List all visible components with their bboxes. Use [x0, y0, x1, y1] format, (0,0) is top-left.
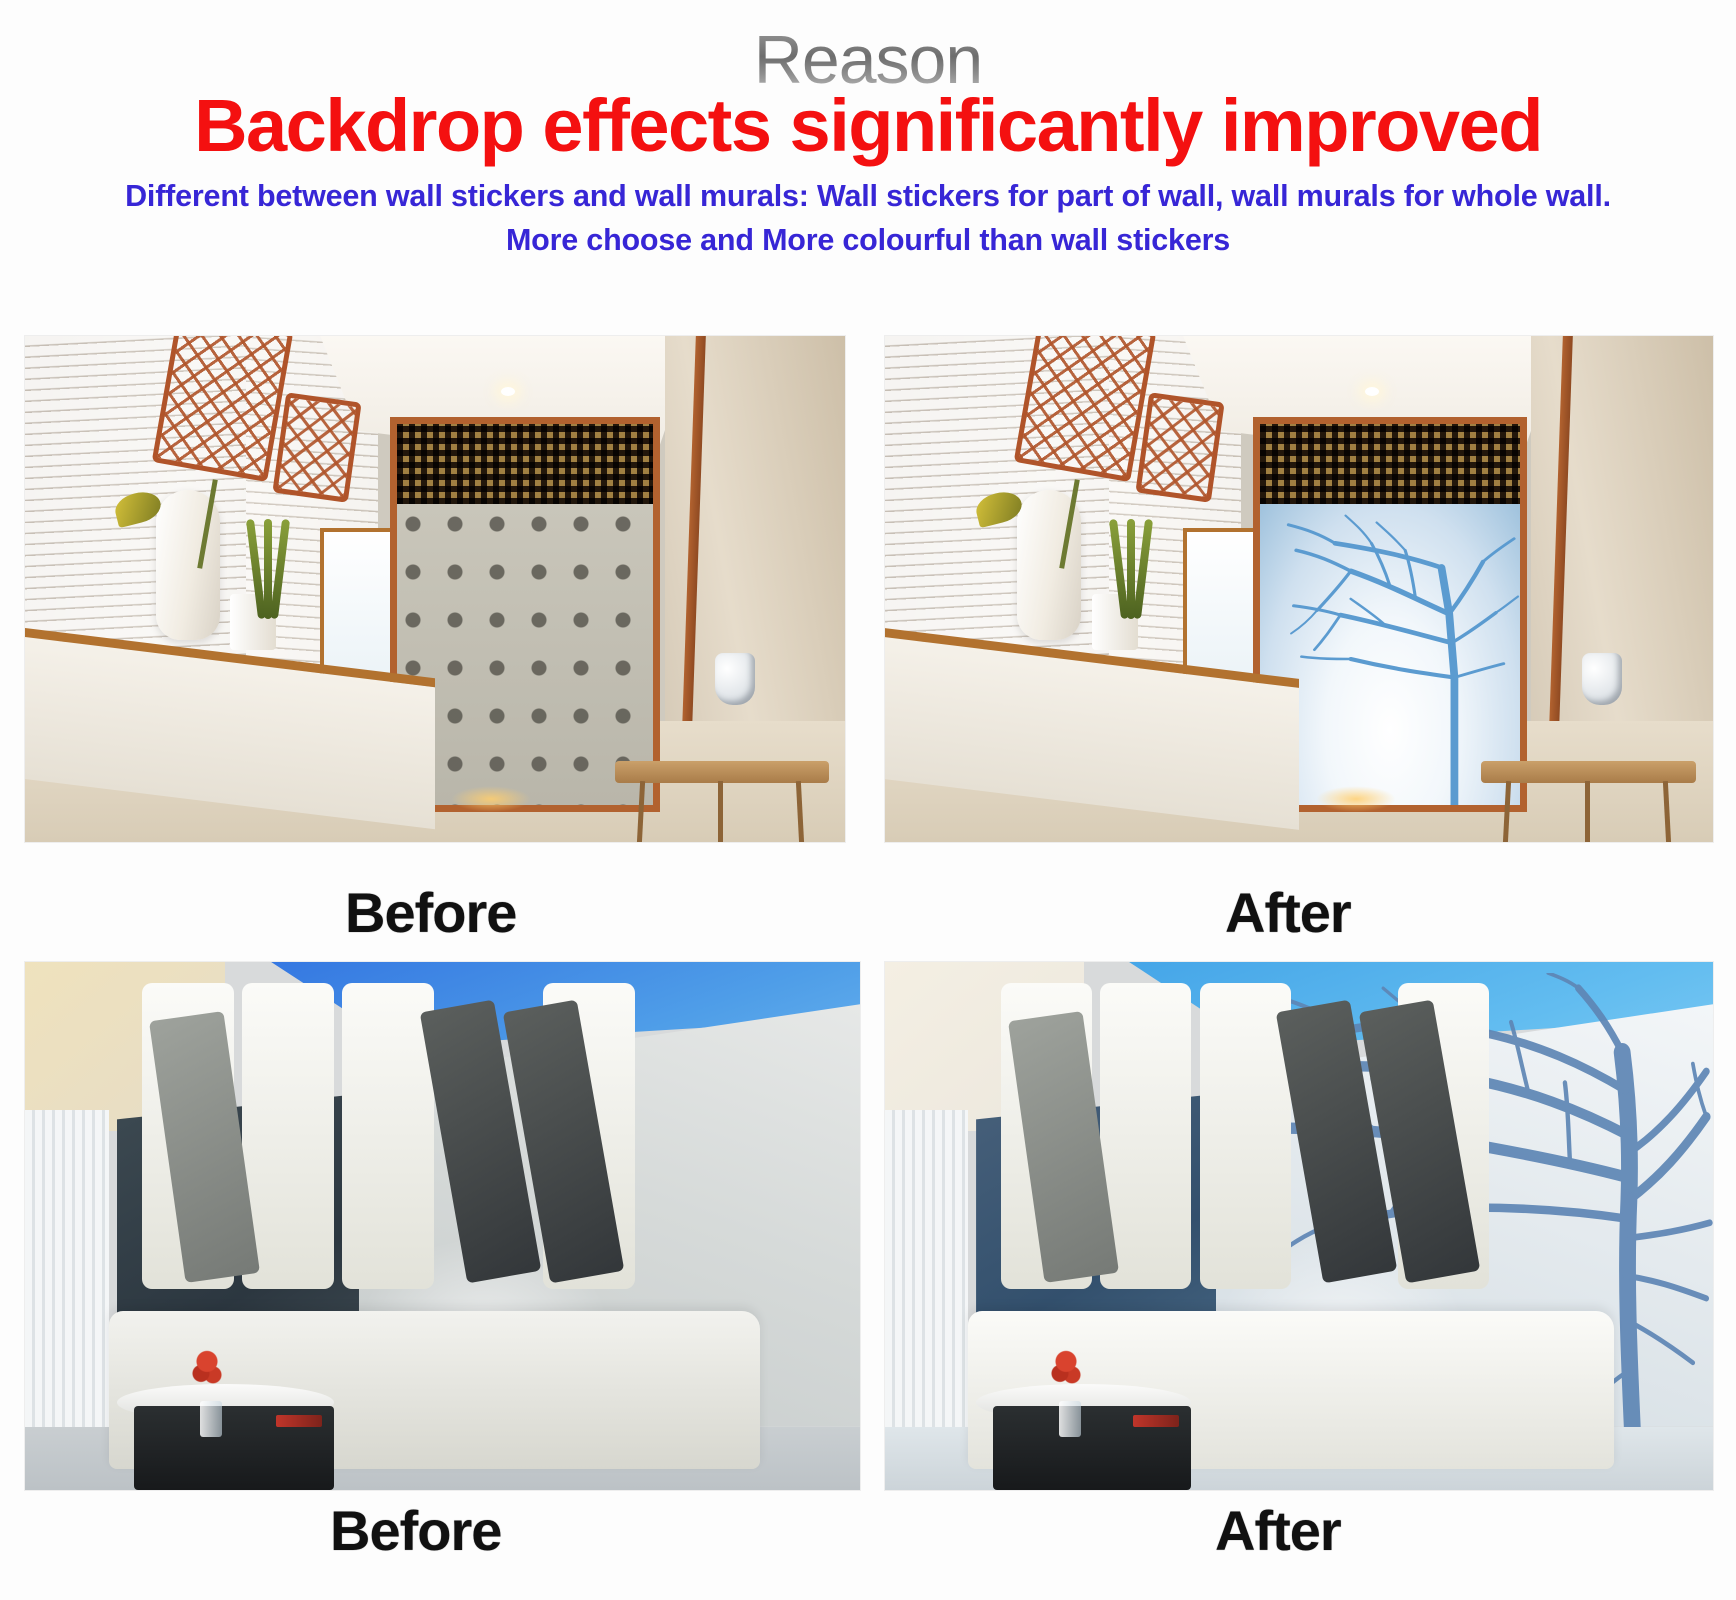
sofa-cushion — [1200, 983, 1291, 1289]
subtitle-line-1: Different between wall stickers and wall… — [0, 175, 1736, 218]
decorative-urn — [1582, 653, 1622, 705]
side-table-top — [1481, 761, 1696, 783]
ceiling-downlight — [501, 387, 515, 396]
lattice-transom — [1260, 424, 1519, 509]
wall-decor-lattice-2 — [273, 392, 362, 503]
floor-light-glow — [451, 786, 531, 812]
hallway-after-photo — [885, 336, 1713, 842]
wall-decor-lattice-2 — [1135, 392, 1225, 503]
side-table-top — [615, 761, 828, 783]
side-table — [615, 761, 828, 812]
hallway-before-caption: Before — [345, 880, 516, 945]
livingroom-before-caption: Before — [330, 1498, 501, 1563]
tree-mural-icon — [1260, 504, 1519, 805]
livingroom-scene-after — [885, 962, 1713, 1490]
table-leg — [1585, 781, 1590, 842]
glass-vase — [200, 1401, 222, 1437]
radiator — [885, 1110, 968, 1437]
tree-mural-panel — [1260, 504, 1519, 805]
book — [1133, 1415, 1179, 1427]
glass-vase — [1059, 1401, 1081, 1437]
page-header: Reason Backdrop effects significantly im… — [0, 0, 1736, 262]
livingroom-after-caption: After — [1215, 1498, 1341, 1563]
green-plant — [1109, 509, 1151, 619]
hallway-before-photo — [25, 336, 845, 842]
livingroom-after-photo — [885, 962, 1713, 1490]
lattice-transom — [397, 424, 654, 509]
table-leg — [718, 781, 723, 842]
floor-light-glow — [1316, 786, 1396, 812]
decorative-urn — [715, 653, 755, 705]
ceiling-downlight — [1365, 387, 1379, 396]
side-table — [1481, 761, 1696, 812]
book — [276, 1415, 322, 1427]
green-plant — [246, 509, 288, 619]
radiator — [25, 1110, 109, 1437]
subtitle-block: Different between wall stickers and wall… — [0, 175, 1736, 262]
red-flowers — [1051, 1347, 1081, 1395]
sofa-cushion — [342, 983, 434, 1289]
livingroom-scene-before — [25, 962, 860, 1490]
hallway-scene-before — [25, 336, 845, 842]
hallway-scene-after — [885, 336, 1713, 842]
subtitle-line-2: More choose and More colourful than wall… — [0, 219, 1736, 262]
red-flowers — [192, 1347, 222, 1395]
page-title: Backdrop effects significantly improved — [0, 88, 1736, 163]
promo-page: Reason Backdrop effects significantly im… — [0, 0, 1736, 1600]
hallway-after-caption: After — [1225, 880, 1351, 945]
livingroom-before-photo — [25, 962, 860, 1490]
